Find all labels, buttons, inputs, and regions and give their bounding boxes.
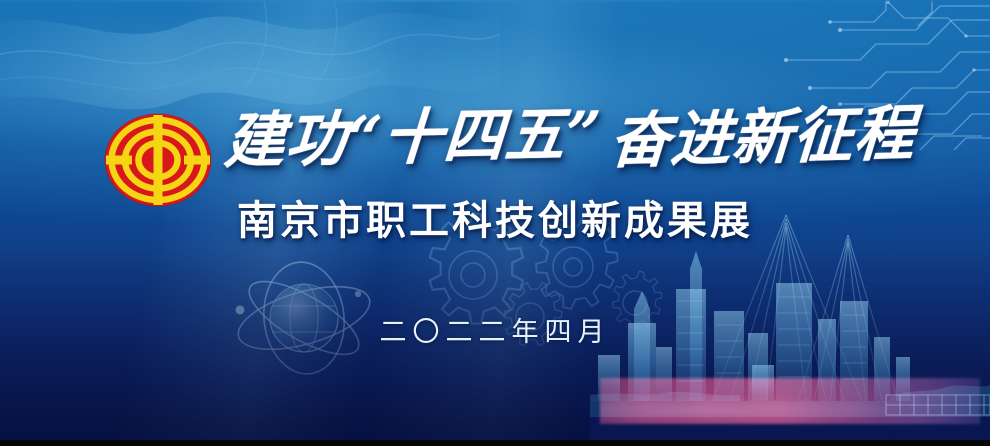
subtitle-text: 南京市职工科技创新成果展 [237,198,753,244]
main-title: 建功“十四五” 奋进新征程 [225,108,915,168]
bottom-bar [0,440,990,446]
poster-banner: 建功“十四五” 奋进新征程 南京市职工科技创新成果展 二〇二二年四月 [0,0,990,446]
date-stamp: 二〇二二年四月 [0,310,990,349]
top-edge-accent [0,0,990,2]
city-light-accents [600,378,980,424]
date-text: 二〇二二年四月 [380,317,611,348]
main-title-part-1: 建功“十四五” [223,104,604,172]
main-title-part-2: 奋进新征程 [608,104,917,172]
subtitle: 南京市职工科技创新成果展 [0,188,990,246]
